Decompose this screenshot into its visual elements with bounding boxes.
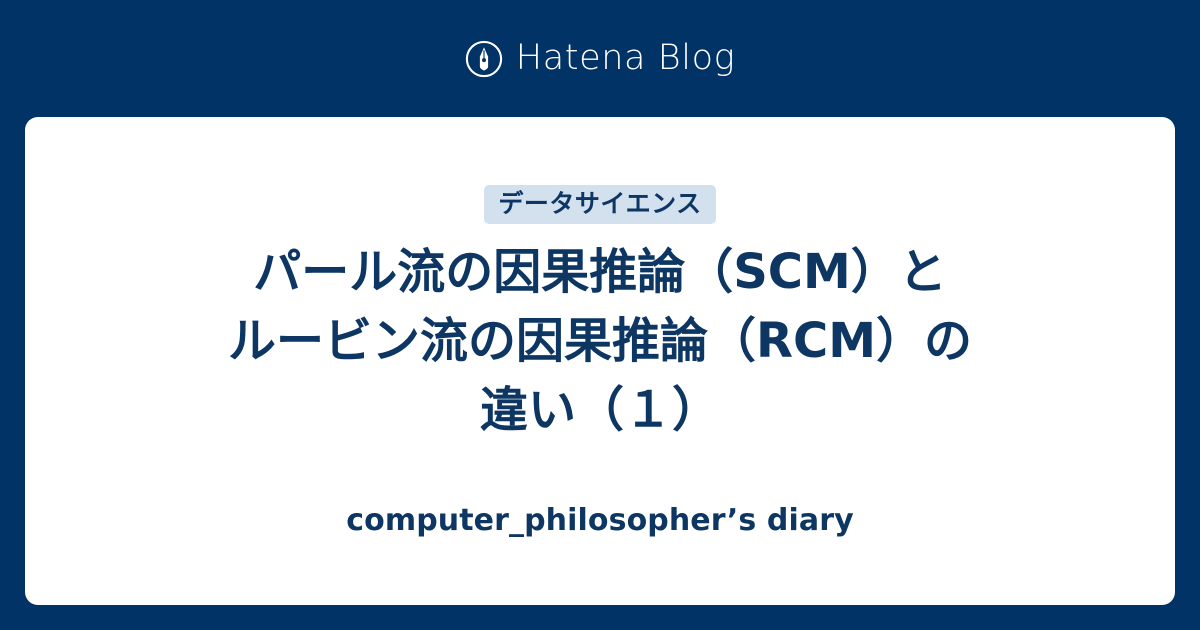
page-title-line-3: 違い（１） xyxy=(228,376,972,445)
entry-card: データサイエンス パール流の因果推論（SCM）と ルービン流の因果推論（RCM）… xyxy=(25,117,1175,605)
page-title-line-2: ルービン流の因果推論（RCM）の xyxy=(228,307,972,376)
page-title-line-1: パール流の因果推論（SCM）と xyxy=(228,238,972,307)
blog-name-label[interactable]: computer_philosopher’s diary xyxy=(346,503,854,539)
og-image-canvas: Hatena Blog データサイエンス パール流の因果推論（SCM）と ルービ… xyxy=(0,0,1200,630)
category-tag[interactable]: データサイエンス xyxy=(484,185,715,224)
page-title: パール流の因果推論（SCM）と ルービン流の因果推論（RCM）の 違い（１） xyxy=(168,238,1032,445)
entry-card-inner: データサイエンス パール流の因果推論（SCM）と ルービン流の因果推論（RCM）… xyxy=(25,117,1175,539)
pen-nib-in-circle-icon xyxy=(465,40,503,78)
category-tag-row: データサイエンス xyxy=(484,185,715,224)
hatena-blog-brand-header: Hatena Blog xyxy=(0,0,1200,117)
brand-name-label: Hatena Blog xyxy=(516,41,735,76)
